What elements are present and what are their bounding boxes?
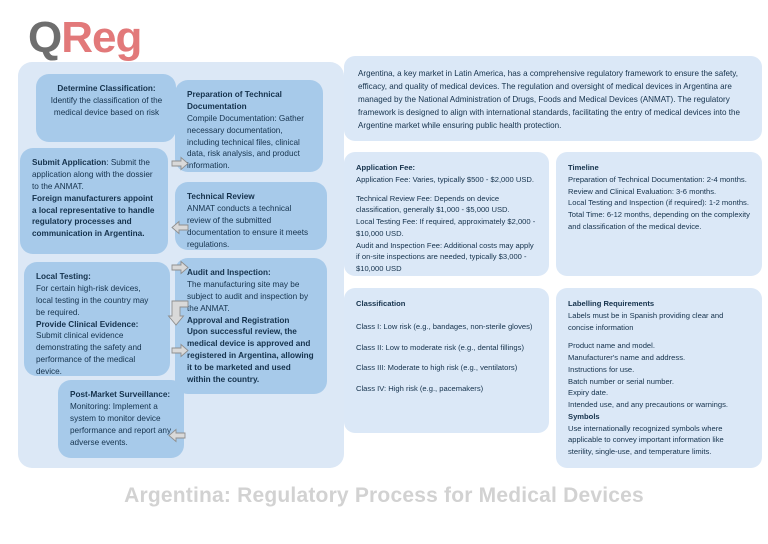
flow-body-local-testing: For certain high-risk devices, local tes… <box>36 283 159 319</box>
labelling-item-2: Manufacturer's name and address. <box>568 352 750 364</box>
labelling-heading: Labelling Requirements <box>568 298 750 310</box>
flow-heading-local-testing: Local Testing: <box>36 272 91 281</box>
labelling-intro: Labels must be in Spanish providing clea… <box>568 310 750 334</box>
flow-heading-submit-application: Submit Application <box>32 158 106 167</box>
labelling-item-4: Batch number or serial number. <box>568 376 750 388</box>
labelling-symbols-heading: Symbols <box>568 411 750 423</box>
classification-class-2: Class II: Low to moderate risk (e.g., de… <box>356 342 537 354</box>
classification-class-3: Class III: Moderate to high risk (e.g., … <box>356 362 537 374</box>
flow-heading-audit-inspection: Audit and Inspection: <box>187 268 271 277</box>
card-labelling-requirements: Labelling Requirements Labels must be in… <box>556 288 762 468</box>
timeline-line-1: Preparation of Technical Documentation: … <box>568 174 750 186</box>
logo-text-reg: Reg <box>61 13 141 62</box>
card-timeline: Timeline Preparation of Technical Docume… <box>556 152 762 276</box>
arrow-right-icon <box>171 343 189 358</box>
card-classification: Classification Class I: Low risk (e.g., … <box>344 288 549 433</box>
arrow-right-icon <box>171 260 189 275</box>
flow-body-technical-review: ANMAT conducts a technical review of the… <box>187 203 316 251</box>
labelling-item-3: Instructions for use. <box>568 364 750 376</box>
fee-line-2: Technical Review Fee: Depends on device … <box>356 193 537 217</box>
flow-body-clinical-evidence: Submit clinical evidence demonstrating t… <box>36 331 142 376</box>
flow-body-approval-registration: Upon successful review, the medical devi… <box>187 327 314 384</box>
flowchart-panel: Determine Classification: Identify the c… <box>18 62 344 468</box>
arrow-left-icon <box>168 428 186 443</box>
flow-subheading-clinical-evidence: Provide Clinical Evidence: <box>36 320 138 329</box>
flow-box-technical-review: Technical Review ANMAT conducts a techni… <box>175 182 327 250</box>
flow-body-preparation: Compile Documentation: Gather necessary … <box>187 113 312 172</box>
logo-letter-q: Q <box>28 13 61 62</box>
flow-heading-preparation: Preparation of Technical Documentation <box>187 90 282 111</box>
flow-box-post-market-surveillance: Post-Market Surveillance: Monitoring: Im… <box>58 380 184 458</box>
flow-box-submit-application: Submit Application: Submit the applicati… <box>20 148 168 254</box>
arrow-left-icon <box>171 220 189 235</box>
flow-box-determine-classification: Determine Classification: Identify the c… <box>36 74 176 142</box>
fee-heading: Application Fee: <box>356 162 537 174</box>
timeline-line-2: Review and Clinical Evaluation: 3-6 mont… <box>568 186 750 198</box>
fee-line-3: Local Testing Fee: If required, approxim… <box>356 216 537 240</box>
classification-class-1: Class I: Low risk (e.g., bandages, non-s… <box>356 321 537 333</box>
flow-heading-technical-review: Technical Review <box>187 192 255 201</box>
fee-line-4: Audit and Inspection Fee: Additional cos… <box>356 240 537 275</box>
flow-heading-approval-registration: Approval and Registration <box>187 316 289 325</box>
flow-heading-determine-classification: Determine Classification: <box>57 84 155 93</box>
timeline-line-4: Total Time: 6-12 months, depending on th… <box>568 209 750 233</box>
labelling-item-5: Expiry date. <box>568 387 750 399</box>
fee-line-1: Application Fee: Varies, typically $500 … <box>356 174 537 186</box>
page-title: Argentina: Regulatory Process for Medica… <box>0 484 768 508</box>
flow-box-local-testing: Local Testing: For certain high-risk dev… <box>24 262 170 376</box>
timeline-heading: Timeline <box>568 162 750 174</box>
flow-body-audit-inspection: The manufacturing site may be subject to… <box>187 279 316 315</box>
card-application-fee: Application Fee: Application Fee: Varies… <box>344 152 549 276</box>
classification-class-4: Class IV: High risk (e.g., pacemakers) <box>356 383 537 395</box>
intro-text: Argentina, a key market in Latin America… <box>358 67 748 133</box>
qreg-logo: QReg <box>28 16 141 60</box>
flow-heading-post-market-surveillance: Post-Market Surveillance: <box>70 390 170 399</box>
card-introduction: Argentina, a key market in Latin America… <box>344 56 762 141</box>
labelling-item-1: Product name and model. <box>568 340 750 352</box>
labelling-symbols-body: Use internationally recognized symbols w… <box>568 423 750 458</box>
arrow-down-elbow-icon <box>167 300 189 326</box>
flow-box-preparation-technical-documentation: Preparation of Technical Documentation C… <box>175 80 323 172</box>
labelling-item-6: Intended use, and any precautions or war… <box>568 399 750 411</box>
timeline-line-3: Local Testing and Inspection (if require… <box>568 197 750 209</box>
arrow-right-icon <box>171 156 189 171</box>
infographic-page: QReg Determine Classification: Identify … <box>0 0 768 544</box>
flow-body-submit-foreign-manufacturers: Foreign manufacturers appoint a local re… <box>32 194 154 239</box>
flow-body-determine-classification: Identify the classification of the medic… <box>48 95 165 119</box>
classification-heading: Classification <box>356 298 537 310</box>
flow-body-post-market-surveillance: Monitoring: Implement a system to monito… <box>70 401 173 449</box>
flow-box-audit-and-inspection: Audit and Inspection: The manufacturing … <box>175 258 327 394</box>
